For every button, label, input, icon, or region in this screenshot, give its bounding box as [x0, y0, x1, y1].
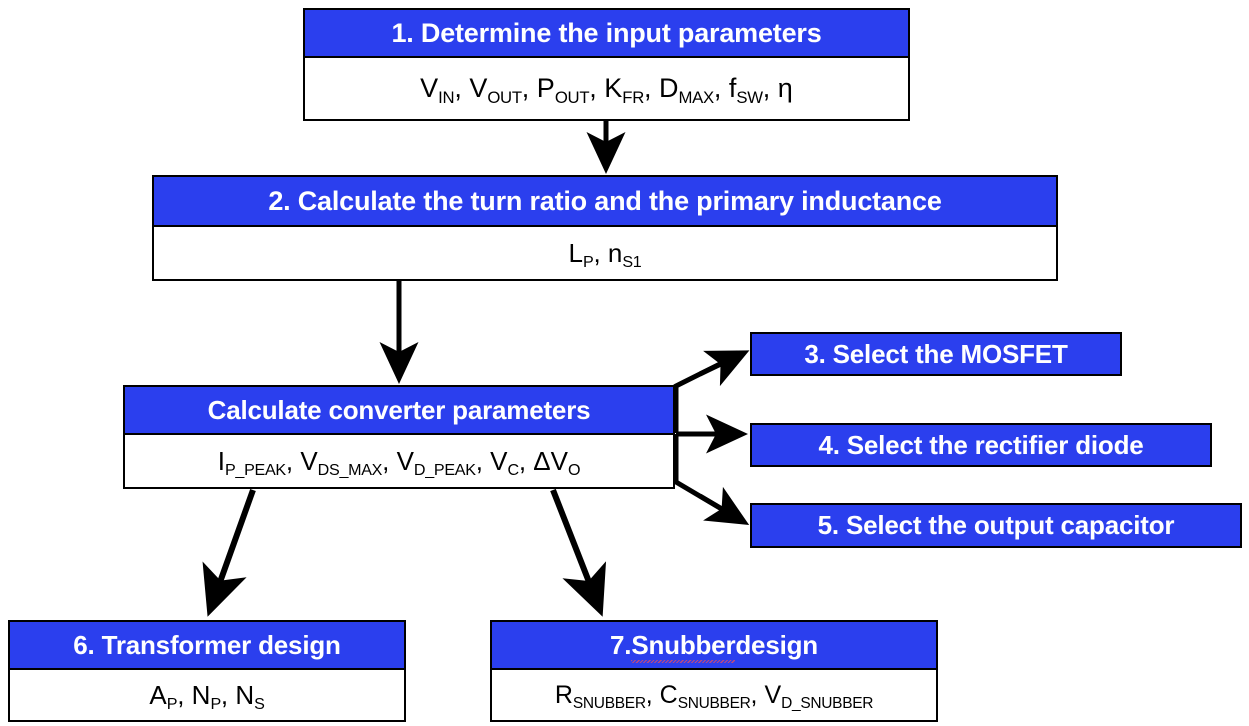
- param-v-c: VC,: [490, 446, 533, 477]
- param-delta-v-o: ΔVO: [533, 446, 580, 477]
- node-header-calculate-converter-parameters: Calculate converter parameters: [125, 387, 673, 435]
- node-select-output-capacitor[interactable]: 5. Select the output capacitor: [750, 503, 1242, 548]
- node-calculate-turn-ratio-primary-inductance[interactable]: 2. Calculate the turn ratio and the prim…: [152, 175, 1058, 281]
- node-header-box5: 5. Select the output capacitor: [752, 505, 1240, 546]
- param-d-max: DMAX,: [659, 73, 729, 104]
- edge-calculate-converter-parameters-to-box3: [675, 353, 744, 434]
- node-header-box7: 7. Snubber design: [492, 622, 936, 670]
- param-r-snubber: RSNUBBER,: [555, 681, 660, 710]
- param-eta: η: [778, 73, 793, 104]
- param-a-p: AP,: [149, 680, 191, 711]
- param-v-d-snubber: VD_SNUBBER: [764, 681, 873, 710]
- edge-calculate-converter-parameters-to-box5: [676, 434, 744, 522]
- param-l-p: LP,: [569, 238, 608, 269]
- node-header-box3: 3. Select the MOSFET: [752, 334, 1120, 374]
- param-i-p-peak: IP_PEAK,: [218, 446, 301, 477]
- node-header-box7-flagged-word: Snubber: [631, 630, 735, 661]
- node-body-box7: RSNUBBER, CSNUBBER, VD_SNUBBER: [492, 670, 936, 720]
- node-body-box2: LP, nS1: [154, 227, 1056, 279]
- param-k-fr: KFR,: [604, 73, 659, 104]
- param-v-d-peak: VD_PEAK,: [397, 446, 491, 477]
- node-header-box2: 2. Calculate the turn ratio and the prim…: [154, 177, 1056, 227]
- edge-calculate-converter-parameters-to-box7: [553, 490, 600, 610]
- param-f-sw: fSW,: [729, 73, 778, 104]
- node-calculate-converter-parameters[interactable]: Calculate converter parameters IP_PEAK, …: [123, 385, 675, 489]
- node-select-mosfet[interactable]: 3. Select the MOSFET: [750, 332, 1122, 376]
- node-body-box1: VIN, VOUT, POUT, KFR, DMAX, fSW, η: [305, 58, 908, 119]
- node-header-box7-prefix: 7.: [610, 630, 631, 661]
- node-snubber-design[interactable]: 7. Snubber design RSNUBBER, CSNUBBER, VD…: [490, 620, 938, 722]
- node-body-calculate-converter-parameters: IP_PEAK, VDS_MAX, VD_PEAK, VC, ΔVO: [125, 435, 673, 487]
- node-header-box4: 4. Select the rectifier diode: [752, 425, 1210, 465]
- param-v-in: VIN,: [420, 73, 469, 104]
- node-header-box6: 6. Transformer design: [10, 622, 404, 670]
- param-n-s1: nS1: [608, 238, 642, 269]
- param-v-ds-max: VDS_MAX,: [300, 446, 396, 477]
- node-body-box6: AP, NP, NS: [10, 670, 404, 720]
- edge-calculate-converter-parameters-to-box6: [210, 490, 253, 610]
- node-header-box7-suffix: design: [735, 630, 818, 661]
- param-n-s: NS: [235, 680, 264, 711]
- node-header-box1: 1. Determine the input parameters: [305, 10, 908, 58]
- param-v-out: VOUT,: [469, 73, 536, 104]
- param-p-out: POUT,: [537, 73, 604, 104]
- node-transformer-design[interactable]: 6. Transformer design AP, NP, NS: [8, 620, 406, 722]
- flowchart-canvas: 1. Determine the input parameters VIN, V…: [0, 0, 1249, 726]
- node-determine-input-parameters[interactable]: 1. Determine the input parameters VIN, V…: [303, 8, 910, 121]
- param-c-snubber: CSNUBBER,: [660, 681, 765, 710]
- param-n-p: NP,: [192, 680, 236, 711]
- node-select-rectifier-diode[interactable]: 4. Select the rectifier diode: [750, 423, 1212, 467]
